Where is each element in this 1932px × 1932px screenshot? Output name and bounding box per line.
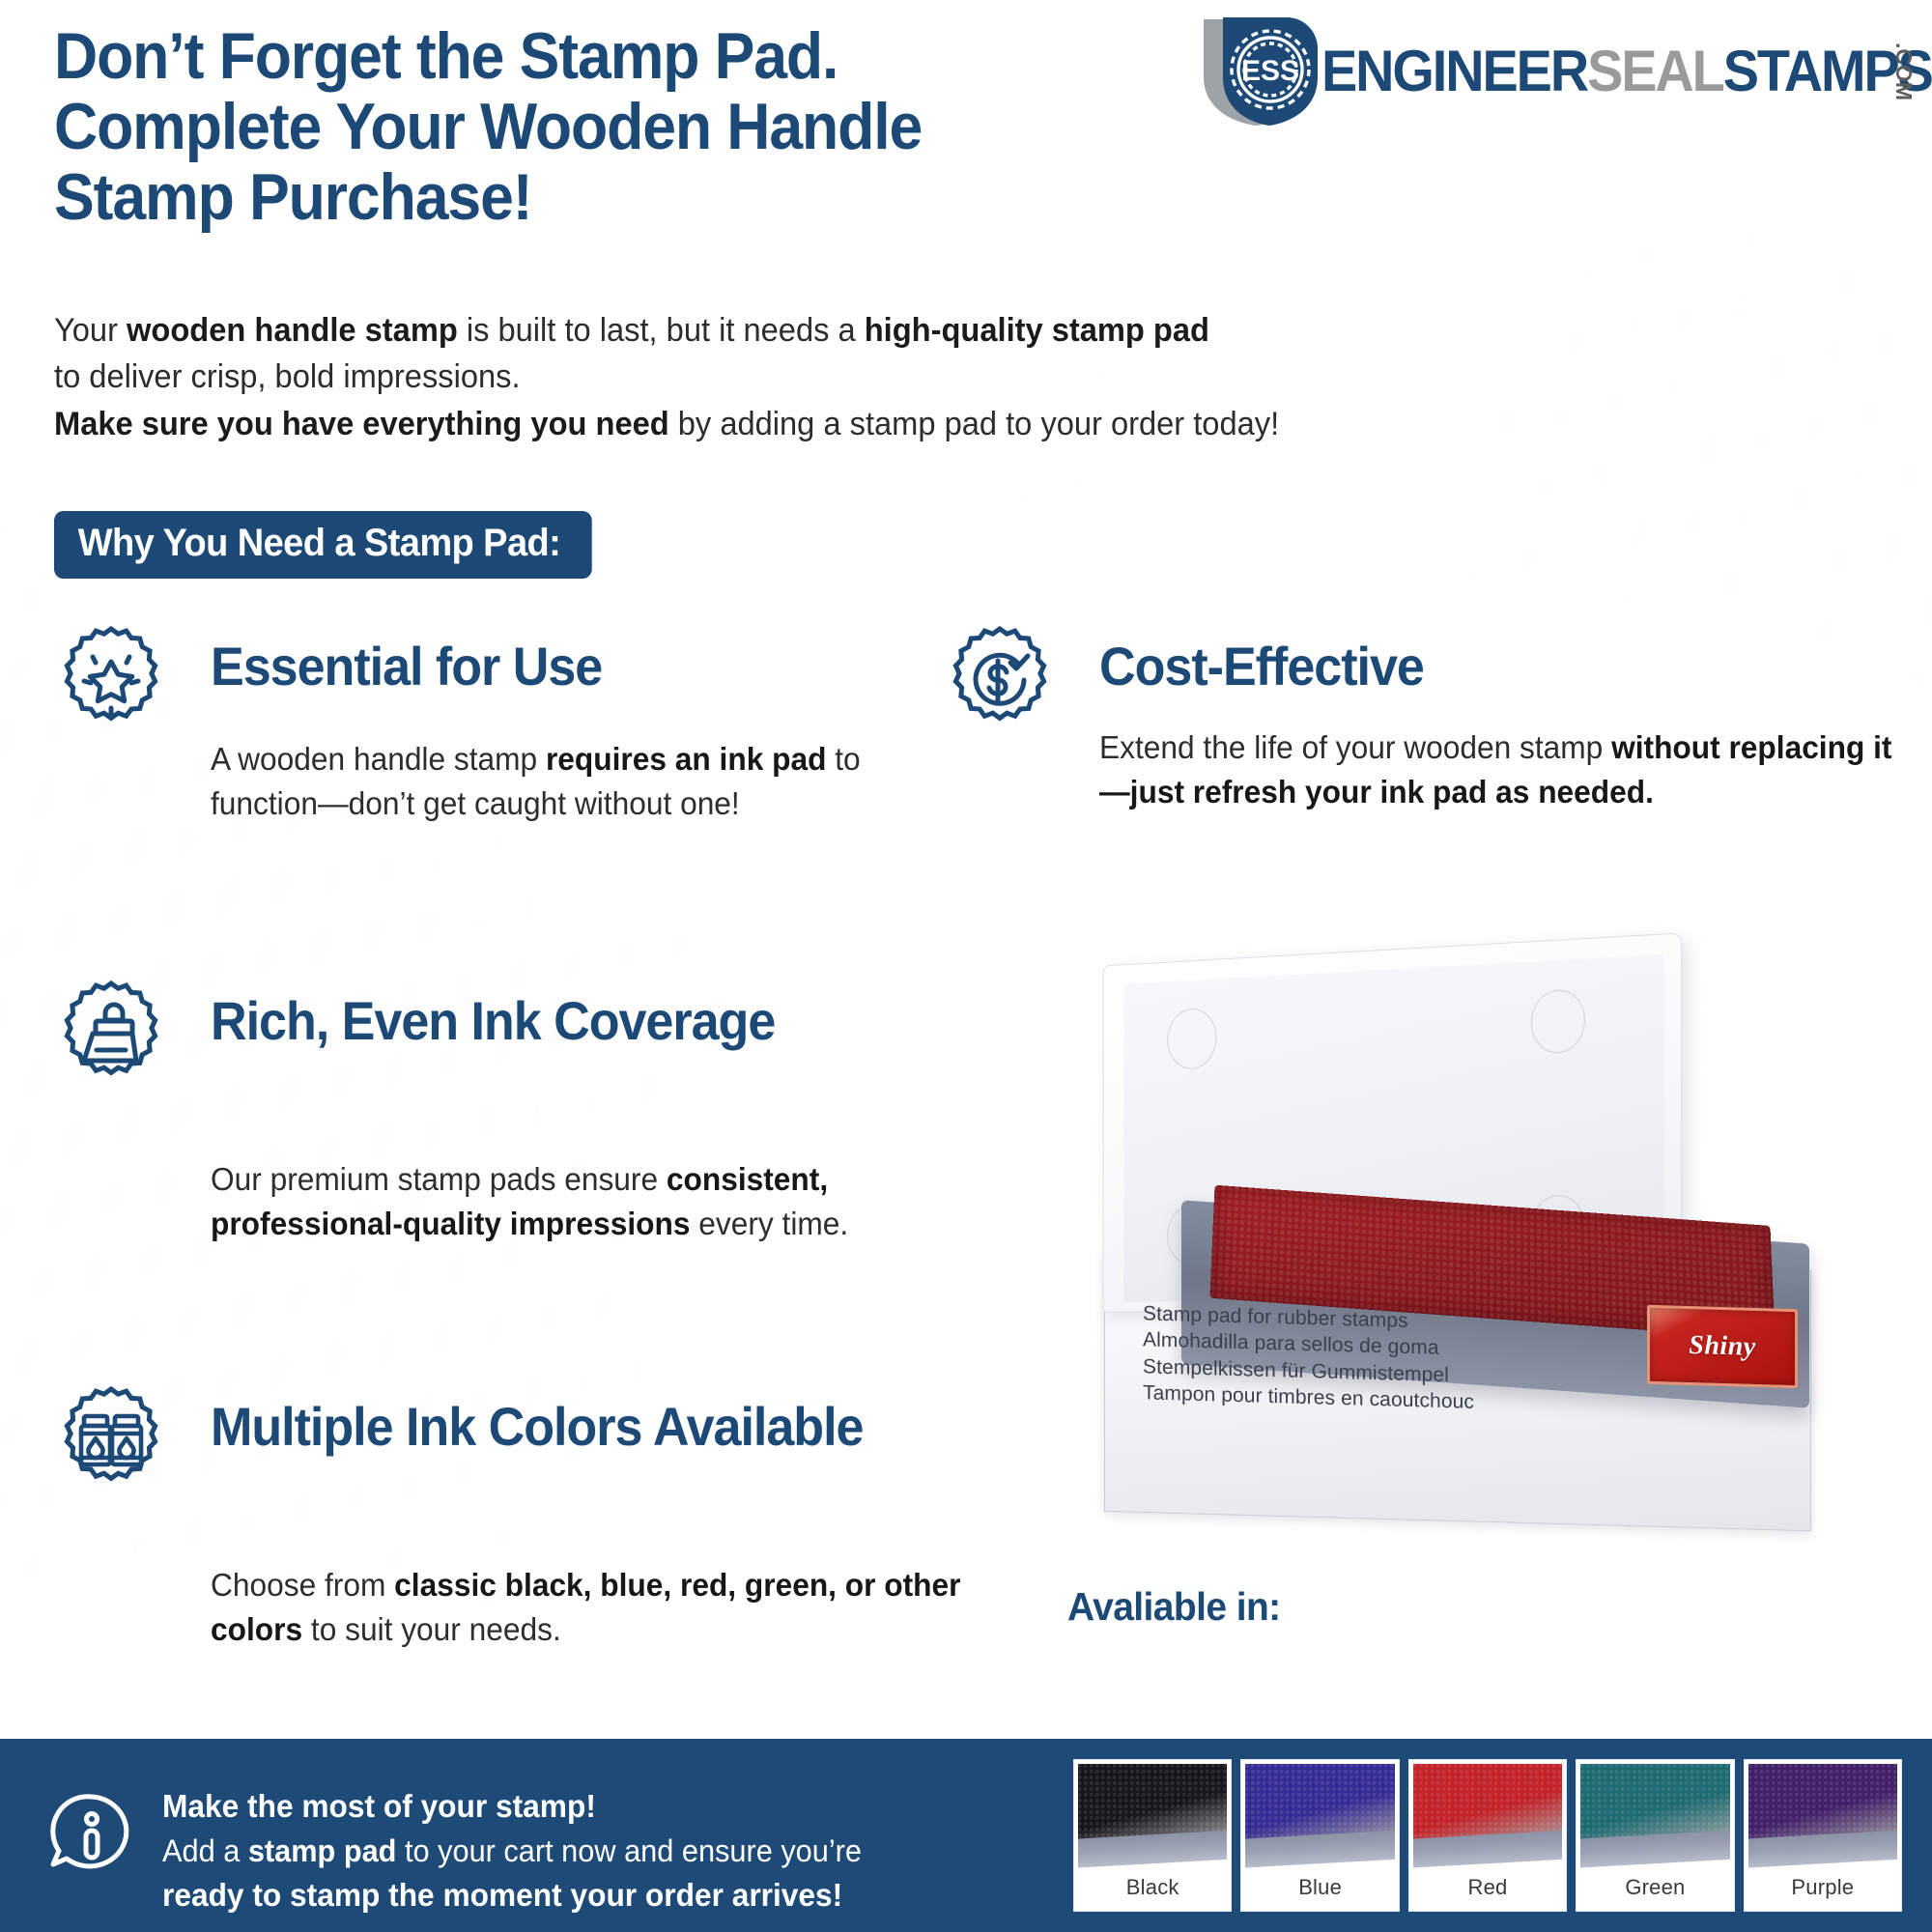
feature-title: Essential for Use — [211, 639, 602, 695]
swatch-label: Green — [1580, 1868, 1729, 1907]
logo-tld: .COM — [1892, 43, 1915, 100]
feature-body: Choose from classic black, blue, red, gr… — [211, 1563, 1009, 1651]
feature-body-text: to suit your needs. — [302, 1611, 561, 1647]
headline-line-3: Stamp Purchase! — [54, 162, 1129, 233]
footer-line-3: ready to stamp the moment your order arr… — [162, 1873, 1015, 1918]
footer-emphasis-stamp-pad: stamp pad — [248, 1833, 397, 1868]
intro-text: is built to last, but it needs a — [458, 312, 865, 349]
headline-line-1: Don’t Forget the Stamp Pad. — [54, 21, 1129, 92]
lid-dimple — [1531, 988, 1585, 1054]
star-badge-icon — [54, 623, 168, 737]
feature-body-text: every time. — [690, 1206, 848, 1241]
intro-text: Your — [54, 312, 127, 349]
swatch-label: Black — [1078, 1868, 1227, 1907]
intro-emphasis-high-quality-stamp-pad: high-quality stamp pad — [865, 312, 1209, 349]
rubber-stamp-badge-icon — [54, 978, 168, 1092]
feature-body: Our premium stamp pads ensure consistent… — [211, 1157, 878, 1245]
intro-text: by adding a stamp pad to your order toda… — [669, 406, 1279, 442]
info-bubble-icon — [43, 1787, 140, 1884]
intro-line-2: to deliver crisp, bold impressions. — [54, 354, 1723, 400]
product-box-text: Stamp pad for rubber stamps Almohadilla … — [1143, 1300, 1606, 1419]
swatch-chip — [1413, 1764, 1562, 1868]
shiny-brand-label: Shiny — [1689, 1330, 1755, 1363]
intro-emphasis-make-sure: Make sure you have everything you need — [54, 406, 669, 442]
swatch-chip — [1078, 1764, 1227, 1868]
feature-title: Multiple Ink Colors Available — [211, 1399, 863, 1455]
footer-text: Make the most of your stamp! Add a stamp… — [162, 1784, 1015, 1918]
intro-paragraph: Your wooden handle stamp is built to las… — [54, 307, 1723, 447]
swatch-label: Red — [1413, 1868, 1562, 1907]
feature-title: Rich, Even Ink Coverage — [211, 993, 775, 1049]
feature-body: Extend the life of your wooden stamp wit… — [1099, 725, 1916, 813]
logo-word-seal: SEAL — [1587, 39, 1723, 103]
swatch-chip — [1580, 1764, 1729, 1868]
ink-swatch-blue[interactable]: Blue — [1241, 1760, 1398, 1911]
footer-line-1: Make the most of your stamp! — [162, 1784, 1015, 1830]
lid-dimple — [1167, 1008, 1216, 1070]
feature-body-text: Extend the life of your wooden stamp — [1099, 729, 1611, 765]
swatch-label: Purple — [1748, 1868, 1897, 1907]
product-photo: Stamp pad for rubber stamps Almohadilla … — [1067, 942, 1869, 1541]
feature-title: Cost-Effective — [1099, 639, 1424, 695]
ink-swatch-red[interactable]: Red — [1409, 1760, 1566, 1911]
intro-emphasis-wooden-handle-stamp: wooden handle stamp — [127, 312, 458, 349]
ink-swatch-green[interactable]: Green — [1577, 1760, 1733, 1911]
intro-line-3: Make sure you have everything you need b… — [54, 401, 1723, 447]
logo-wordmark: ENGINEERSEALSTAMPS — [1321, 43, 1932, 100]
why-banner: Why You Need a Stamp Pad: — [54, 511, 592, 579]
ink-swatch-purple[interactable]: Purple — [1745, 1760, 1901, 1911]
feature-body-emphasis: requires an ink pad — [546, 741, 826, 777]
footer-text-plain: Add a — [162, 1833, 248, 1868]
feature-body: A wooden handle stamp requires an ink pa… — [211, 737, 896, 825]
header: Don’t Forget the Stamp Pad. Complete You… — [0, 0, 1932, 290]
ess-logo[interactable]: ESS ENGINEERSEALSTAMPS .COM — [1198, 14, 1913, 128]
ink-bottles-badge-icon — [54, 1383, 168, 1497]
feature-body-text: Choose from — [211, 1567, 394, 1603]
shiny-brand-badge: Shiny — [1647, 1305, 1798, 1388]
page-title: Don’t Forget the Stamp Pad. Complete You… — [54, 21, 1129, 232]
footer-line-2: Add a stamp pad to your cart now and ens… — [162, 1830, 1015, 1873]
ink-color-swatches: BlackBlueRedGreenPurple — [1074, 1760, 1901, 1911]
logo-word-engineer: ENGINEER — [1321, 39, 1587, 103]
swatch-chip — [1748, 1764, 1897, 1868]
swatch-label: Blue — [1245, 1868, 1394, 1907]
available-in-label: Avaliable in: — [1067, 1584, 1281, 1630]
footer-text-plain: to your cart now and ensure you’re — [396, 1833, 862, 1868]
feature-body-text: Our premium stamp pads ensure — [211, 1161, 667, 1197]
shield-gear-logo-icon: ESS — [1198, 14, 1321, 128]
headline-line-2: Complete Your Wooden Handle — [54, 92, 1129, 162]
dollar-check-badge-icon — [943, 623, 1057, 737]
feature-body-text: A wooden handle stamp — [211, 741, 546, 777]
intro-line-1: Your wooden handle stamp is built to las… — [54, 307, 1723, 354]
infographic-page: Don’t Forget the Stamp Pad. Complete You… — [0, 0, 1932, 1932]
swatch-chip — [1245, 1764, 1394, 1868]
ink-swatch-black[interactable]: Black — [1074, 1760, 1231, 1911]
logo-monogram: ESS — [1241, 55, 1299, 87]
